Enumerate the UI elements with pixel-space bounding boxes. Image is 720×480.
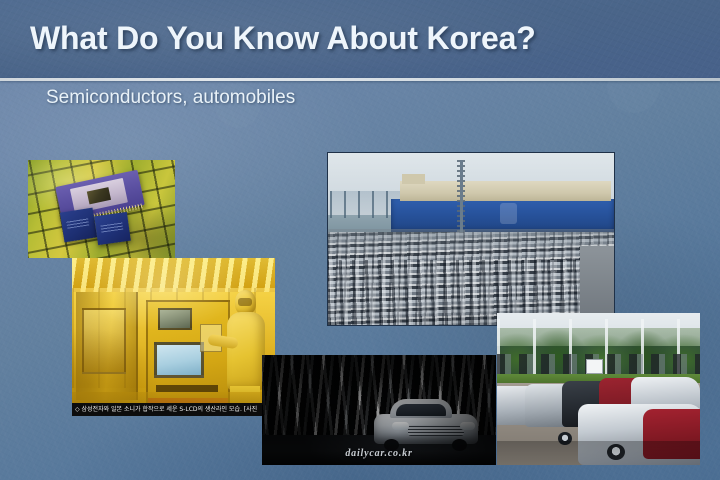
cleanroom-light-glow — [72, 258, 275, 416]
dealership-lot-photo — [497, 313, 700, 465]
sedan-photo-watermark: dailycar.co.kr — [345, 448, 412, 459]
car-carrier-port-photo — [327, 152, 615, 326]
title-divider — [0, 78, 720, 81]
semiconductor-cleanroom-photo: ◇ 삼성전자와 일본 소니가 합작으로 세운 S-LCD의 생산라인 모습. [… — [72, 258, 275, 416]
ship-superstructure — [400, 181, 612, 202]
memory-module-right — [94, 212, 131, 245]
semiconductor-wafer-photo — [28, 160, 175, 258]
ship-vent — [500, 203, 517, 224]
dealership-sign — [586, 359, 602, 374]
slide-title: What Do You Know About Korea? — [30, 20, 536, 57]
port-depth-shading — [328, 229, 614, 325]
dealership-ground-shadow — [497, 441, 700, 465]
cleanroom-photo-caption: ◇ 삼성전자와 일본 소니가 합작으로 세운 S-LCD의 생산라인 모습. [… — [72, 403, 275, 416]
ship-bridge — [402, 174, 425, 184]
memory-module-left — [60, 208, 97, 243]
slide-subtitle: Semiconductors, automobiles — [46, 87, 295, 109]
motion-blur-sedan-photo: dailycar.co.kr — [262, 355, 496, 465]
ship-mast — [460, 160, 463, 239]
chip-die — [87, 187, 111, 204]
presentation-slide: What Do You Know About Korea? Semiconduc… — [0, 0, 720, 480]
